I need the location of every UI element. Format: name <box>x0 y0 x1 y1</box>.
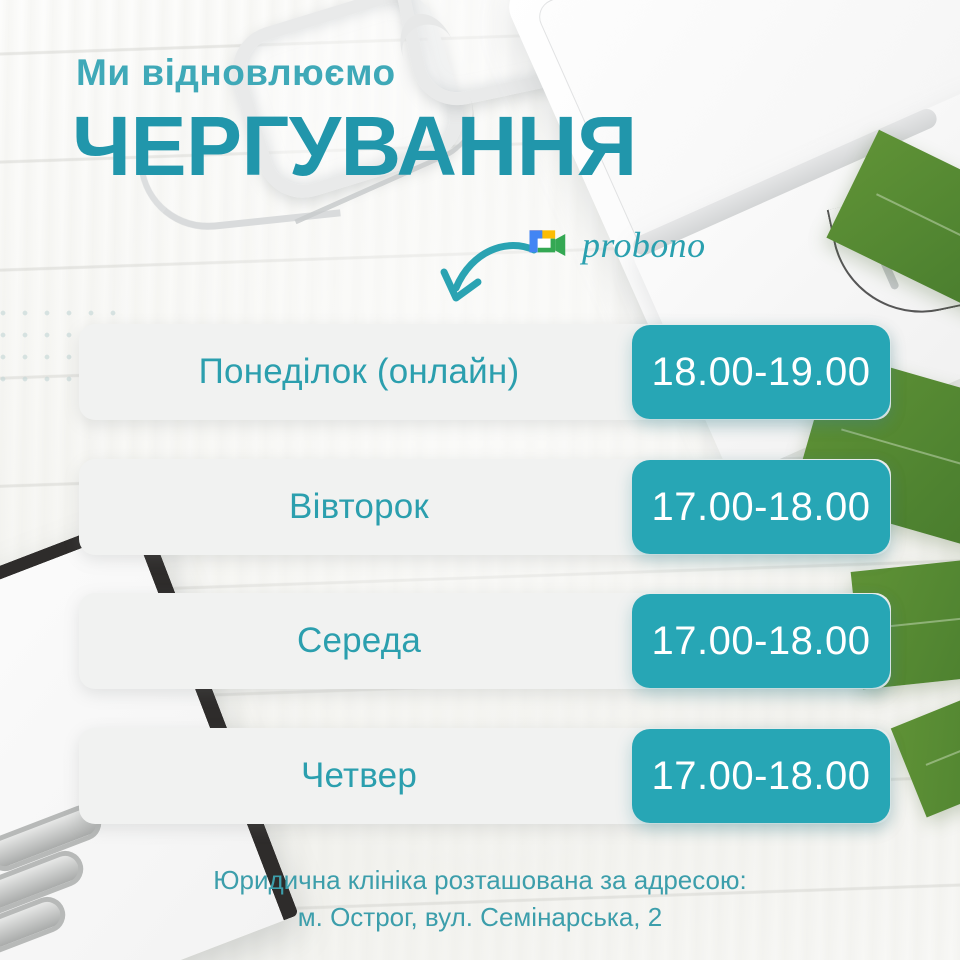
address-footer: Юридична клініка розташована за адресою:… <box>0 862 960 936</box>
google-meet-icon <box>524 226 568 264</box>
curved-arrow-down-left-icon <box>438 236 538 326</box>
page-title: ЧЕРГУВАННЯ <box>72 104 637 190</box>
probono-brand-row: probono <box>524 224 705 266</box>
schedule-time-label: 18.00-19.00 <box>651 350 870 395</box>
schedule-row[interactable]: Понеділок (онлайн) 18.00-19.00 <box>79 324 891 420</box>
schedule-time-badge[interactable]: 17.00-18.00 <box>632 594 890 688</box>
address-line-1: Юридична клініка розташована за адресою: <box>0 862 960 899</box>
schedule-time-badge[interactable]: 18.00-19.00 <box>632 325 890 419</box>
schedule-time-badge[interactable]: 17.00-18.00 <box>632 460 890 554</box>
schedule-time-label: 17.00-18.00 <box>651 485 870 530</box>
schedule-time-label: 17.00-18.00 <box>651 754 870 799</box>
kicker-text: Ми відновлюємо <box>76 52 396 94</box>
schedule-day-label: Вівторок <box>79 459 639 555</box>
schedule-row[interactable]: Середа 17.00-18.00 <box>79 593 891 689</box>
schedule-row[interactable]: Четвер 17.00-18.00 <box>79 728 891 824</box>
schedule-row[interactable]: Вівторок 17.00-18.00 <box>79 459 891 555</box>
schedule-time-badge[interactable]: 17.00-18.00 <box>632 729 890 823</box>
poster-canvas: Ми відновлюємо ЧЕРГУВАННЯ probono Понеді… <box>0 0 960 960</box>
probono-label: probono <box>582 224 705 266</box>
schedule-time-label: 17.00-18.00 <box>651 619 870 664</box>
address-line-2: м. Острог, вул. Семінарська, 2 <box>0 899 960 936</box>
schedule-day-label: Понеділок (онлайн) <box>79 324 639 420</box>
schedule-day-label: Четвер <box>79 728 639 824</box>
schedule-day-label: Середа <box>79 593 639 689</box>
